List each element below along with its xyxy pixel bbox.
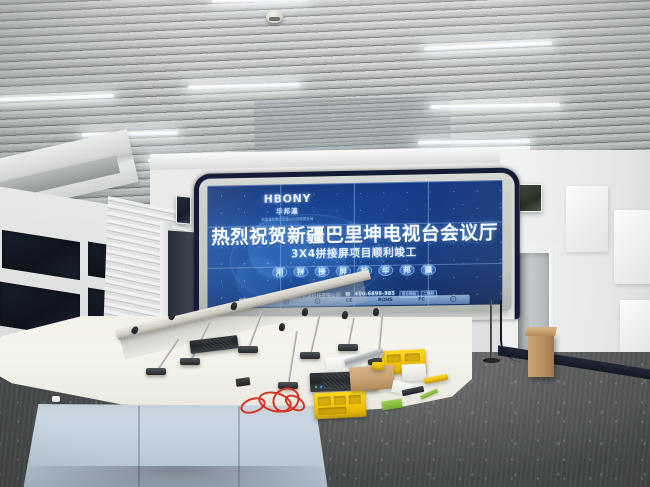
microphone-base xyxy=(180,358,200,365)
room-photo: HBONY 华邦瀛 中国领先的工业级LCD拼接屏品牌 热烈祝贺新疆巴里坤电视台会… xyxy=(0,0,650,487)
microphone-base xyxy=(238,346,258,353)
tray-cell xyxy=(318,396,331,406)
microphone-base xyxy=(300,352,320,359)
check-icon: ✓ xyxy=(450,296,456,302)
microphone-base xyxy=(338,344,358,351)
slogan-bubble: 邦 xyxy=(399,264,414,275)
slogan-bubble: 接 xyxy=(314,266,329,277)
box-cell xyxy=(387,354,401,363)
floor-cable xyxy=(500,300,522,362)
right-wall-acoustic-panel-1 xyxy=(566,186,608,252)
cert-label-fc: FC xyxy=(418,297,425,302)
status-led-green xyxy=(315,386,317,388)
slogan-bubble: 拼 xyxy=(293,266,308,277)
brand-chinese-name: 华邦瀛 xyxy=(239,204,336,216)
microphone-capsule xyxy=(373,308,379,316)
brand-logo-mark: HBONY xyxy=(239,192,336,205)
mixer-mesh xyxy=(201,337,232,351)
yellow-tool-tray[interactable] xyxy=(313,391,366,420)
wall-speaker-right xyxy=(519,184,542,212)
tray-cell xyxy=(334,396,346,406)
slogan-bubble: 华 xyxy=(378,265,393,276)
right-wall-acoustic-panel-2 xyxy=(614,210,650,284)
slogan-bubble: 瀛 xyxy=(421,264,436,275)
slogan-bubble: 用 xyxy=(272,266,287,277)
small-part xyxy=(52,396,60,402)
right-wall-acoustic-panel-3 xyxy=(620,300,650,360)
tray-cell xyxy=(318,407,346,415)
cardboard-box-flap xyxy=(525,327,557,336)
cardboard-box xyxy=(528,333,554,377)
status-led-blue xyxy=(320,386,322,388)
caulk-trigger xyxy=(372,362,384,370)
microphone-base xyxy=(146,368,166,375)
smoke-detector xyxy=(266,10,283,23)
box-cell xyxy=(405,353,420,362)
white-carton[interactable] xyxy=(402,363,427,381)
wall-speaker-left xyxy=(176,195,191,224)
table-floor-shadow xyxy=(16,466,336,487)
tray-cell xyxy=(349,395,361,405)
cert-label-rohs: ROHS xyxy=(378,298,393,303)
brand-block: HBONY 华邦瀛 中国领先的工业级LCD拼接屏品牌 xyxy=(239,192,336,222)
